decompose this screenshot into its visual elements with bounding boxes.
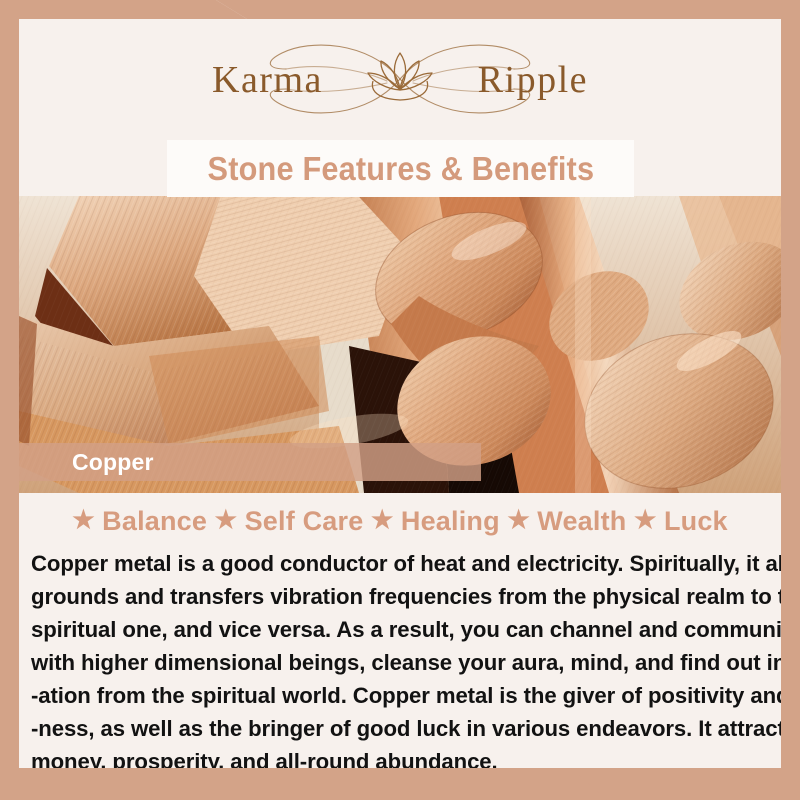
bottom-band-tan <box>0 768 800 800</box>
copper-rods-photo: Copper <box>19 196 781 493</box>
brand-name-right: Ripple <box>478 61 588 99</box>
frame-right-edge <box>781 0 800 800</box>
frame-left-edge <box>0 0 19 800</box>
description-text: Copper metal is a good conductor of heat… <box>31 547 773 768</box>
keyword-wealth: Wealth <box>537 506 626 536</box>
brand-name-left: Karma <box>212 61 323 99</box>
star-icon: ★ <box>634 506 656 534</box>
photo-caption-banner: Copper <box>19 443 481 481</box>
description-line: -ness, as well as the bringer of good lu… <box>31 712 762 745</box>
description-line: spiritual one, and vice versa. As a resu… <box>31 613 762 646</box>
description-line: Copper metal is a good conductor of heat… <box>31 547 762 580</box>
infographic-page: Karma Ripple <box>0 0 800 800</box>
photo-caption-label: Copper <box>72 449 154 476</box>
description-line: money, prosperity, and all-round abundan… <box>31 745 762 768</box>
keyword-balance: Balance <box>102 506 207 536</box>
star-icon: ★ <box>215 506 237 534</box>
page-title: Stone Features & Benefits <box>207 150 594 188</box>
brand-header: Karma Ripple <box>19 19 781 140</box>
benefit-keywords: ★ Balance ★ Self Care ★ Healing ★ Wealth… <box>19 505 781 537</box>
keyword-self-care: Self Care <box>245 506 364 536</box>
top-band-tan <box>0 0 800 19</box>
description-line: -ation from the spiritual world. Copper … <box>31 679 762 712</box>
star-icon: ★ <box>72 506 94 534</box>
section-title-banner: Stone Features & Benefits <box>167 140 634 197</box>
description-line: with higher dimensional beings, cleanse … <box>31 646 762 679</box>
keyword-luck: Luck <box>664 506 728 536</box>
star-icon: ★ <box>507 506 529 534</box>
star-icon: ★ <box>371 506 393 534</box>
description-line: grounds and transfers vibration frequenc… <box>31 580 762 613</box>
content-card: Karma Ripple <box>19 19 781 768</box>
keyword-healing: Healing <box>401 506 500 536</box>
brand-logo: Karma Ripple <box>190 33 610 125</box>
